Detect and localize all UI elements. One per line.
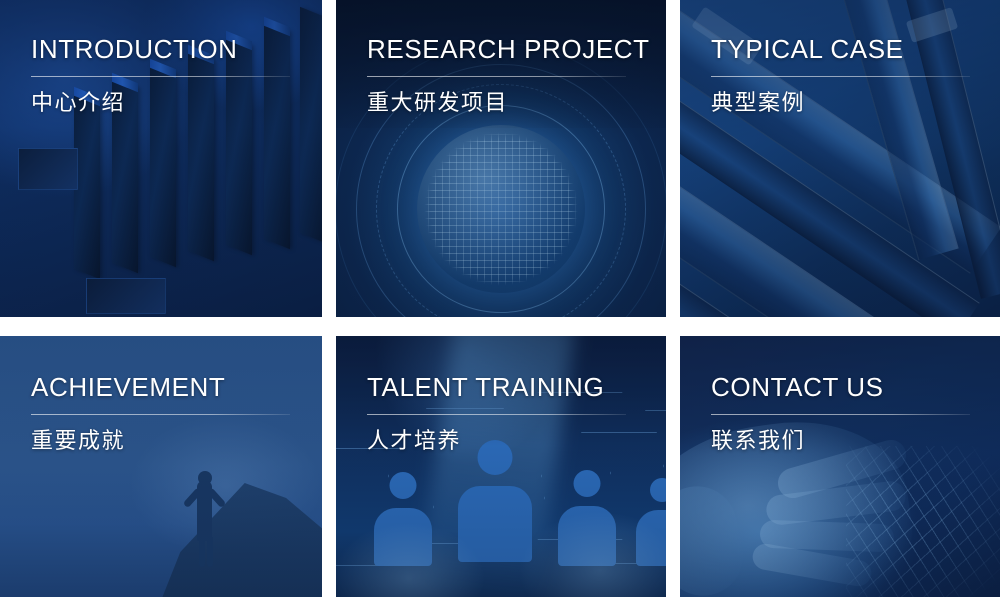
card-typical-case[interactable]: TYPICAL CASE 典型案例 <box>680 0 1000 317</box>
card-contact-us[interactable]: CONTACT US 联系我们 <box>680 336 1000 597</box>
card-achievement-title-en: ACHIEVEMENT <box>31 372 293 402</box>
card-contact-us-text: CONTACT US 联系我们 <box>711 372 973 454</box>
card-talent-training-title-cn: 人才培养 <box>367 428 629 454</box>
card-achievement[interactable]: ACHIEVEMENT 重要成就 <box>0 336 322 597</box>
card-research-project-title-cn: 重大研发项目 <box>367 90 629 116</box>
card-research-project-divider <box>367 76 626 77</box>
card-introduction-title-en: INTRODUCTION <box>31 34 293 64</box>
card-contact-us-divider <box>711 414 970 415</box>
card-achievement-divider <box>31 414 290 415</box>
card-research-project-title-en: RESEARCH PROJECT <box>367 34 629 64</box>
card-grid: INTRODUCTION 中心介绍 RESEARCH PROJECT 重大研发项… <box>0 0 1000 597</box>
card-research-project-text: RESEARCH PROJECT 重大研发项目 <box>367 34 629 116</box>
card-typical-case-divider <box>711 76 970 77</box>
card-introduction[interactable]: INTRODUCTION 中心介绍 <box>0 0 322 317</box>
card-research-project[interactable]: RESEARCH PROJECT 重大研发项目 <box>336 0 666 317</box>
card-typical-case-title-en: TYPICAL CASE <box>711 34 973 64</box>
card-introduction-divider <box>31 76 290 77</box>
card-contact-us-title-cn: 联系我们 <box>711 428 973 454</box>
card-achievement-text: ACHIEVEMENT 重要成就 <box>31 372 293 454</box>
card-contact-us-title-en: CONTACT US <box>711 372 973 402</box>
card-introduction-text: INTRODUCTION 中心介绍 <box>31 34 293 116</box>
card-achievement-title-cn: 重要成就 <box>31 428 293 454</box>
card-talent-training-text: TALENT TRAINING 人才培养 <box>367 372 629 454</box>
card-introduction-title-cn: 中心介绍 <box>31 90 293 116</box>
card-typical-case-title-cn: 典型案例 <box>711 90 973 116</box>
card-talent-training[interactable]: TALENT TRAINING 人才培养 <box>336 336 666 597</box>
card-typical-case-text: TYPICAL CASE 典型案例 <box>711 34 973 116</box>
card-talent-training-title-en: TALENT TRAINING <box>367 372 629 402</box>
card-talent-training-divider <box>367 414 626 415</box>
